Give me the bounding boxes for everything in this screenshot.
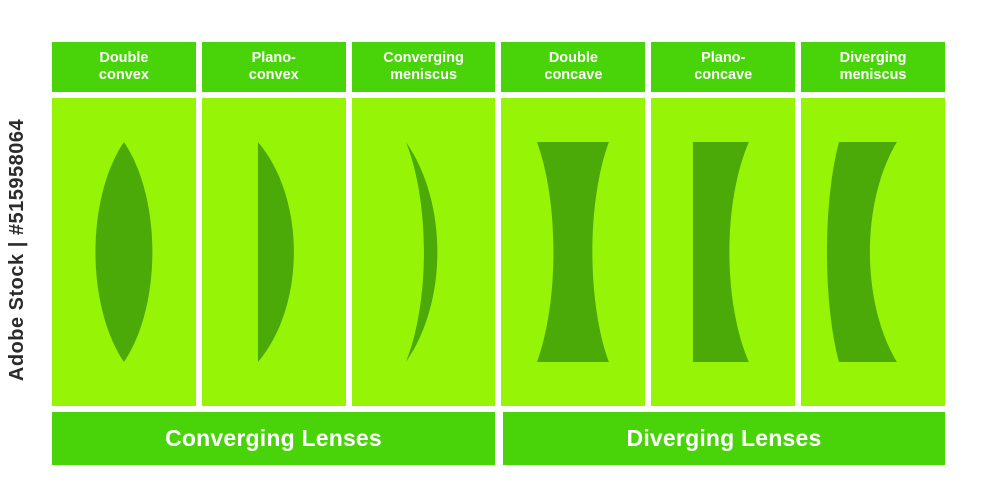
plano-concave-lens-icon [651, 98, 795, 406]
header-label-double-concave: Double concave [544, 50, 602, 84]
header-cell-diverging-meniscus: Diverging meniscus [801, 42, 945, 92]
header-cell-converging-meniscus: Converging meniscus [352, 42, 496, 92]
diverging-meniscus-lens-icon [801, 98, 945, 406]
header-label-converging-meniscus: Converging meniscus [383, 50, 464, 84]
lens-types-diagram: Double convex Plano- convex Converging m… [52, 42, 945, 465]
header-label-plano-concave: Plano- concave [694, 50, 752, 84]
header-label-diverging-meniscus: Diverging meniscus [840, 50, 907, 84]
lens-group-banner-row: Converging Lenses Diverging Lenses [52, 412, 945, 465]
header-label-plano-convex: Plano- convex [249, 50, 299, 84]
group-banner-label-converging: Converging Lenses [165, 425, 382, 452]
group-banner-converging: Converging Lenses [52, 412, 495, 465]
lens-panel-plano-concave [651, 98, 795, 406]
header-label-double-convex: Double convex [99, 50, 149, 84]
header-cell-double-convex: Double convex [52, 42, 196, 92]
header-cell-double-concave: Double concave [501, 42, 645, 92]
plano-convex-lens-icon [202, 98, 346, 406]
biconcave-lens-icon [501, 98, 645, 406]
lens-panel-plano-convex [202, 98, 346, 406]
lens-panel-double-convex [52, 98, 196, 406]
header-cell-plano-concave: Plano- concave [651, 42, 795, 92]
lens-panel-converging-meniscus [352, 98, 496, 406]
biconvex-lens-icon [52, 98, 196, 406]
lens-illustration-row [52, 98, 945, 406]
lens-name-header-row: Double convex Plano- convex Converging m… [52, 42, 945, 92]
group-banner-diverging: Diverging Lenses [503, 412, 945, 465]
lens-panel-double-concave [501, 98, 645, 406]
header-cell-plano-convex: Plano- convex [202, 42, 346, 92]
lens-panel-diverging-meniscus [801, 98, 945, 406]
converging-meniscus-lens-icon [352, 98, 496, 406]
group-banner-label-diverging: Diverging Lenses [627, 425, 822, 452]
adobe-stock-watermark: Adobe Stock | #515958064 [0, 0, 34, 500]
